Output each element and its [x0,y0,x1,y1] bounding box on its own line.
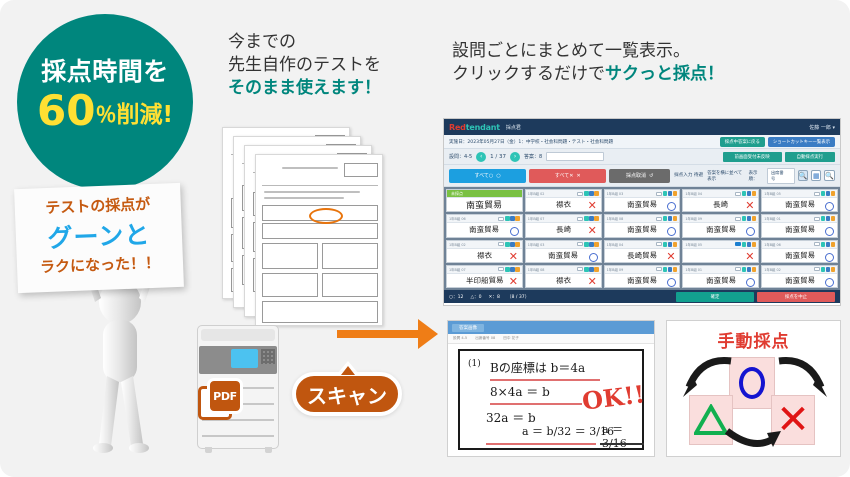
answer-cell-body: 南蛮貿易 [605,274,680,287]
headline-right-line1: 設問ごとにまとめて一覧表示。 [452,40,724,63]
answer-cell-checkbox[interactable] [656,242,662,246]
answer-cell-body: 南蛮貿易 [526,249,601,262]
search-input[interactable] [546,152,604,161]
answer-cell-header: 1年B組 01 [762,215,837,223]
answer-cell-header: 1年B組 08 [605,215,680,223]
answer-cell-id: 1年B組 08 [528,267,545,272]
cancel-grading-button[interactable]: 採点を中止 [757,292,835,302]
answer-cell-header: 1年B組 06 [447,215,522,223]
badge-number: 60 [37,86,95,135]
answer-cell-body: ✕ [683,249,758,262]
grid-view-icon[interactable]: ▦ [811,170,821,181]
answer-cell-mark-buttons [821,267,836,272]
answer-cell-checkbox[interactable] [814,192,820,196]
mark-triangle-button[interactable] [668,242,673,247]
undo-icon: ↺ [649,173,653,179]
sign-line2: グーンと [15,214,182,256]
answer-cell-checkbox[interactable] [498,267,504,271]
answer-cell-id: 1年B組 03 [607,191,624,196]
mark-triangle-button[interactable] [589,242,594,247]
handwritten-answer-text: 南蛮貿易 [784,249,814,261]
mark-circle-button[interactable] [821,216,826,221]
answer-student-no: 出席番号 08 [475,336,495,341]
mark-triangle-button[interactable] [589,191,594,196]
handwritten-answer-box: (1) Bの座標は b＝4a 8×4a ＝ b 32a ＝ b a ＝ b/32… [458,349,644,450]
mark-triangle-button[interactable] [747,267,752,272]
answer-cell[interactable]: 1年B組 03南蛮貿易 [604,189,681,212]
mark-triangle-button[interactable] [747,242,752,247]
app-info-bar: 実施日：2023年05月27日（金）1：中学校・社会科問題・テスト・社会科問題 … [444,135,840,149]
answer-cell[interactable]: 1年B組 09南蛮貿易 [604,265,681,288]
correct-mark-icon [746,227,755,236]
return-to-grading-button[interactable]: 採点中答案に戻る [720,137,765,147]
answer-cell-header: 1年B組 03 [605,190,680,198]
answer-cell-id: 1年B組 05 [764,191,781,196]
mark-circle-button[interactable] [663,267,668,272]
pdf-icon: PDF [198,378,246,426]
flow-arrow-head [418,319,438,349]
mark-all-wrong-button[interactable]: すべて✕ ✕ [529,169,606,183]
mark-circle-button[interactable] [584,191,589,196]
answer-cell[interactable]: 1年B組 01南蛮貿易 [761,214,838,237]
answer-cell[interactable]: 1年B組 07長崎✕ [525,214,602,237]
answer-cell[interactable]: 1年B組 01南蛮貿易 [682,265,759,288]
promo-banner: 採点時間を 60％削減! テストの採点が グーンと ラクになった！！ 今ま [0,0,850,477]
scan-label: スキャン [292,372,402,416]
copier-touchscreen [231,349,258,368]
mark-circle-button[interactable] [742,242,747,247]
undo-grading-button[interactable]: 採点取消 ↺ [609,169,670,183]
page-info: （8 / 37） [507,294,529,300]
answer-cell-checkbox[interactable] [498,217,504,221]
answer-cell-checkbox[interactable] [656,192,662,196]
answer-cell-body: 南蛮貿易 [605,223,680,236]
mark-triangle-button[interactable] [589,267,594,272]
answer-cell[interactable]: 1年B組 02南蛮貿易 [761,265,838,288]
answer-question-no: 設問 4-5 [453,336,467,341]
handwritten-answer-text: 南蛮貿易 [706,224,736,236]
answer-cell-checkbox[interactable] [735,267,741,271]
answer-cell-id: 1年B組 07 [528,216,545,221]
answer-cell-header: 1年B組 09 [605,266,680,274]
handwritten-answer-text: 南蛮貿易 [469,224,499,236]
correct-mark-icon [825,227,834,236]
handwritten-answer-text: 南蛮貿易 [784,224,814,236]
mark-cross-button[interactable] [594,267,599,272]
math-underline-final [600,443,644,445]
app-status-bar: ○：12 △：0 ✕：8 （8 / 37） 確定 採点を中止 [444,290,840,303]
answer-cell-id: 1年B組 01 [685,267,702,272]
test-paper-front [255,154,383,326]
sheet-count-label: 答案：8 [524,153,542,160]
unreflected-button[interactable]: 前画面受付未反映 [723,152,782,162]
copier-tray [202,435,274,437]
mark-cross-button[interactable] [752,242,757,247]
answer-cell-id: 1年B組 06 [449,216,466,221]
answer-cell-id: 1年B組 07 [449,267,466,272]
mark-cross-button[interactable] [594,242,599,247]
wrong-count: ✕：8 [489,294,500,300]
mark-circle-button[interactable] [505,267,510,272]
answer-cell-body: 襟衣✕ [447,249,522,262]
mark-triangle-button[interactable] [589,216,594,221]
answer-cell-id: 1年B組 08 [607,216,624,221]
mark-cross-button[interactable] [752,267,757,272]
correct-mark-icon [510,227,519,236]
wrong-mark-icon: ✕ [588,201,598,211]
app-action-bar: すべて○ ○ すべて✕ ✕ 採点取消 ↺ 採点入力 待避 答案を横に並べて表示 … [444,165,840,187]
math-underline [490,379,600,381]
page-indicator: 1 / 37 [490,154,506,160]
answer-cell-mark-buttons [505,267,520,272]
testimonial-sign: テストの採点が グーンと ラクになった！！ [14,183,184,293]
handwritten-answer-text: 南蛮貿易 [627,199,657,211]
answer-cell-mark-buttons [742,242,757,247]
answer-cell-id: 1年B組 03 [528,242,545,247]
answer-cell-checkbox[interactable] [656,217,662,221]
mark-cross-button[interactable] [515,242,520,247]
mark-cross-button[interactable] [831,267,836,272]
handwritten-answer-text: 襟衣 [556,275,571,286]
answer-cell-header: 1年B組 01 [683,266,758,274]
handwritten-answer-text: 長崎 [556,224,571,235]
answer-cell-id: 1年B組 02 [764,267,781,272]
math-line-4: a ＝ b/32 ＝ 3/16 [522,423,614,439]
answer-cell-id: 未採点 [449,191,465,197]
badge-cut-label: 削減! [116,102,173,128]
mark-cross-button[interactable] [831,191,836,196]
answer-cell[interactable]: 1年B組 04長崎貿易✕ [604,240,681,263]
sort-select[interactable]: 出席番号 [767,168,795,184]
correct-mark-icon [667,227,676,236]
cycle-arrow-bottom-icon [723,425,785,455]
mark-triangle-button[interactable] [826,216,831,221]
circle-icon [739,367,765,399]
answer-cell-id: 1年B組 05 [685,242,702,247]
answer-cell-header: 1年B組 02 [526,190,601,198]
answer-cell-id: 1年B組 01 [764,216,781,221]
mark-circle-button[interactable] [663,242,668,247]
answer-cell-mark-buttons [505,216,520,221]
circle-icon: ○ [496,173,500,179]
answer-cell-body: 南蛮貿易 [605,198,680,211]
mark-triangle-button[interactable] [510,242,515,247]
app-titlebar: Redtendant 採点君 佐藤 一郎 ▾ [444,119,840,135]
correct-count: ○：12 [449,294,463,300]
answer-cell-body: 南蛮貿易 [683,223,758,236]
answer-cell-header: 1年B組 09 [683,215,758,223]
test-paper-stack [222,127,387,327]
headline-right: 設問ごとにまとめて一覧表示。 クリックするだけでサクっと採点！ [452,40,724,86]
answer-cell-mark-buttons [663,267,678,272]
answer-cell-mark-buttons [742,191,757,196]
answer-cell[interactable]: 1年B組 06南蛮貿易 [761,240,838,263]
headline-right-line2a: クリックするだけで [452,64,605,84]
user-menu[interactable]: 佐藤 一郎 ▾ [809,124,835,131]
answer-grid: 未採点南蛮貿易1年B組 02襟衣✕1年B組 03南蛮貿易1年B組 04長崎✕1年… [446,189,838,288]
answer-cell[interactable]: 1年B組 09南蛮貿易 [682,214,759,237]
answer-cell-mark-buttons [663,191,678,196]
answer-cell-mark-buttons [505,242,520,247]
answer-cell-checkbox[interactable] [577,217,583,221]
mark-circle-button[interactable] [742,191,747,196]
handwritten-answer-text: 南蛮貿易 [627,224,657,236]
answer-cell-body: 襟衣✕ [526,198,601,211]
correct-mark-icon [667,278,676,287]
headline-middle: 今までの 先生自作のテストを そのまま使えます！ [228,31,381,100]
answer-cell-header: 未採点 [447,190,522,198]
filter-area: 答案を横に並べて表示 表示順： 出席番号 🔍 ▦ 🔍 [707,168,835,184]
mark-all-correct-button[interactable]: すべて○ ○ [449,169,526,183]
math-line-5: a ＝ 3/16 [602,421,642,450]
mark-cross-button[interactable] [515,267,520,272]
mark-cross-button[interactable] [831,216,836,221]
copier-lid [201,329,275,341]
wrong-mark-icon: ✕ [745,201,755,211]
answer-cell[interactable]: 1年B組 06南蛮貿易 [446,214,523,237]
badge-line2: 60％削減! [17,86,193,135]
answer-cell[interactable]: 未採点南蛮貿易 [446,189,523,212]
answer-cell[interactable]: 1年B組 08襟衣✕ [525,265,602,288]
mark-triangle-button[interactable] [826,242,831,247]
align-horizontal-toggle[interactable]: 答案を横に並べて表示 [707,170,745,182]
handwritten-answer-text: 長崎 [713,199,728,210]
handwritten-answer-text: 襟衣 [477,249,492,260]
answer-cell-mark-buttons [821,191,836,196]
cross-icon: ✕ [576,173,580,179]
mark-circle-button[interactable] [505,216,510,221]
answer-cell[interactable]: 1年B組 02襟衣✕ [446,240,523,263]
answer-cell-checkbox[interactable] [735,217,741,221]
correct-mark-icon [825,202,834,211]
answer-cell-id: 1年B組 09 [685,216,702,221]
answer-cell-mark-buttons [584,191,599,196]
headline-right-line2b: サクっと採点！ [605,64,724,84]
answer-cell-checkbox[interactable] [814,217,820,221]
mark-cross-button[interactable] [673,267,678,272]
mark-cross-button[interactable] [515,216,520,221]
answer-student-name: 田中 花子 [503,336,519,341]
answer-highlight-ellipse [309,208,343,224]
badge-line1: 採点時間を [17,52,193,88]
mark-all-wrong-label: すべて✕ [555,172,574,179]
answer-cell-checkbox[interactable] [735,192,741,196]
answer-cell-mark-buttons [663,216,678,221]
answer-cell-body: 南蛮貿易 [762,274,837,287]
mark-circle-button[interactable] [742,216,747,221]
next-question-button[interactable]: › [510,152,520,162]
pdf-icon-label: PDF [207,378,243,414]
app-screenshot: Redtendant 採点君 佐藤 一郎 ▾ 実施日：2023年05月27日（金… [443,118,841,306]
info-buttons: 採点中答案に戻る ショートカットキー一覧表示 [720,137,835,147]
answer-cell-checkbox[interactable] [577,192,583,196]
answer-cell[interactable]: 1年B組 05南蛮貿易 [761,189,838,212]
mark-triangle-button[interactable] [826,267,831,272]
confirm-button[interactable]: 確定 [676,292,754,302]
copier-foot [265,447,272,453]
answer-cell-body: 南蛮貿易 [447,223,522,236]
answer-cell-body: 南蛮貿易 [683,274,758,287]
answer-cell-mark-buttons [742,267,757,272]
answer-cell-checkbox[interactable] [735,242,741,246]
mark-triangle-button[interactable] [510,216,515,221]
mark-circle-button[interactable] [821,191,826,196]
mark-circle-button[interactable] [821,267,826,272]
answer-cell-header: 1年B組 05 [762,190,837,198]
mark-triangle-button[interactable] [668,267,673,272]
mark-triangle-button[interactable] [668,191,673,196]
headline-middle-line1: 今までの [228,31,381,54]
answer-cell-mark-buttons [821,216,836,221]
status-buttons: 確定 採点を中止 [676,292,835,302]
answer-cell-header: 1年B組 02 [762,266,837,274]
app-logo-teal: tendant [466,123,500,132]
mark-cross-button[interactable] [752,191,757,196]
answer-cell-id: 1年B組 09 [607,267,624,272]
shortcut-list-button[interactable]: ショートカットキー一覧表示 [768,137,835,147]
mark-circle-button[interactable] [742,267,747,272]
auto-grade-button[interactable]: 自動採点実行 [785,152,835,162]
answer-cell-checkbox[interactable] [498,242,504,246]
answer-cell-mark-buttons [663,242,678,247]
mark-cross-button[interactable] [673,216,678,221]
answer-cell-mark-buttons [584,267,599,272]
mark-triangle-button[interactable] [747,216,752,221]
mark-cross-button[interactable] [752,216,757,221]
answer-cell-checkbox[interactable] [814,242,820,246]
answer-cell-mark-buttons [584,242,599,247]
answer-image-subbar: 設問 4-5 出席番号 08 田中 花子 [448,334,654,344]
math-question-number: (1) [468,359,481,369]
headline-middle-line3: そのまま使えます！ [228,77,381,100]
answer-cell-checkbox[interactable] [577,242,583,246]
answer-cell-mark-buttons [742,216,757,221]
cycle-arrow-left-icon [679,353,737,401]
handwritten-answer-text: 南蛮貿易 [548,249,578,261]
answer-cell-id: 1年B組 06 [764,242,781,247]
mark-cross-button[interactable] [831,242,836,247]
question-label: 設問：4-5 [449,153,472,160]
answer-cell-id: 1年B組 02 [528,191,545,196]
mark-cross-button[interactable] [673,242,678,247]
answer-cell-body: 南蛮貿易 [762,198,837,211]
answer-cell-id: 1年B組 02 [449,242,466,247]
badge-percent: ％ [95,103,116,127]
answer-cell-mark-buttons [821,242,836,247]
answer-cell[interactable]: 1年B組 08南蛮貿易 [604,214,681,237]
answer-cell-checkbox[interactable] [656,267,662,271]
answer-image-titlebar: 答案画像 [448,321,654,334]
mark-circle-button[interactable] [821,242,826,247]
answer-cell-header: 1年B組 07 [447,266,522,274]
mark-triangle-button[interactable] [510,267,515,272]
handwritten-answer-text: 南蛮貿易 [784,274,814,286]
answer-cell[interactable]: 1年B組 05✕ [682,240,759,263]
answer-cell-body: 南蛮貿易 [762,223,837,236]
answer-image-tab[interactable]: 答案画像 [452,324,484,332]
mark-cross-button[interactable] [594,191,599,196]
app-logo-red: Red [449,123,466,132]
cycle-arrow-right-icon [773,353,831,401]
flow-arrow-shaft [337,330,423,338]
answer-cell-checkbox[interactable] [577,267,583,271]
manual-scoring-panel: 手動採点 ✕ [666,320,841,457]
answer-cell-header: 1年B組 04 [605,241,680,249]
answer-cell-header: 1年B組 04 [683,190,758,198]
wrong-mark-icon: ✕ [509,277,519,287]
correct-mark-icon [589,253,598,262]
answer-cell[interactable]: 1年B組 02襟衣✕ [525,189,602,212]
answer-cell-id: 1年B組 04 [685,191,702,196]
manual-scoring-title: 手動採点 [667,327,840,352]
answer-cell-header: 1年B組 02 [447,241,522,249]
headline-right-line2: クリックするだけでサクっと採点！ [452,63,724,86]
handwritten-answer-text: 半印船貿易 [466,274,504,286]
mark-circle-button[interactable] [663,216,668,221]
answer-cell-body: 半印船貿易✕ [447,274,522,287]
answer-cell-body: 南蛮貿易 [447,198,522,211]
discount-badge: 採点時間を 60％削減! [17,14,193,190]
mark-circle-button[interactable] [584,267,589,272]
answer-cell-header: 1年B組 05 [683,241,758,249]
handwritten-answer-text: 南蛮貿易 [466,198,502,212]
app-logo-subtitle: 採点君 [506,124,521,131]
prev-question-button[interactable]: ‹ [476,152,486,162]
answer-cell[interactable]: 1年B組 04長崎✕ [682,189,759,212]
handwritten-answer-text: 南蛮貿易 [784,199,814,211]
app-nav-bar: 設問：4-5 ‹ 1 / 37 › 答案：8 前画面受付未反映 自動採点実行 [444,149,840,165]
scan-pill-notch [341,366,355,375]
mark-triangle-button[interactable] [826,191,831,196]
mark-triangle-button[interactable] [668,216,673,221]
math-underline [486,443,596,445]
correct-mark-icon [825,278,834,287]
answer-cell-mark-buttons [584,216,599,221]
math-line-1: Bの座標は b＝4a [490,359,585,376]
answer-cell[interactable]: 1年B組 03南蛮貿易 [525,240,602,263]
headline-middle-line2: 先生自作のテストを [228,54,381,77]
copier-keypad-icon [261,349,275,364]
answer-cell[interactable]: 1年B組 07半印船貿易✕ [446,265,523,288]
grading-input-hold-label: 採点入力 待避 [673,173,704,179]
exam-info-text: 実施日：2023年05月27日（金）1：中学校・社会科問題・テスト・社会科問題 [449,139,613,145]
wrong-mark-icon: ✕ [588,277,598,287]
app-logo: Redtendant [449,123,500,132]
ok-mark: OK!! [580,379,646,415]
mark-circle-button[interactable] [505,242,510,247]
correct-mark-icon [667,202,676,211]
handwritten-answer-text: 南蛮貿易 [706,274,736,286]
correct-mark-icon [825,253,834,262]
zoom-icon[interactable]: 🔍 [798,170,809,181]
mark-cross-button[interactable] [673,191,678,196]
correct-mark-icon [746,278,755,287]
math-underline [490,403,582,405]
mark-circle-button[interactable] [663,191,668,196]
answer-cell-header: 1年B組 08 [526,266,601,274]
mark-cross-button[interactable] [594,216,599,221]
wrong-mark-icon: ✕ [509,252,519,262]
mark-circle-button[interactable] [584,242,589,247]
copier-foot [205,447,212,453]
mark-triangle-button[interactable] [747,191,752,196]
answer-cell-body: 長崎✕ [526,223,601,236]
answer-cell-checkbox[interactable] [814,267,820,271]
search-icon[interactable]: 🔍 [824,170,835,181]
mark-circle-button[interactable] [584,216,589,221]
partial-count: △：0 [470,294,481,300]
answer-cell-body: 南蛮貿易 [762,249,837,262]
